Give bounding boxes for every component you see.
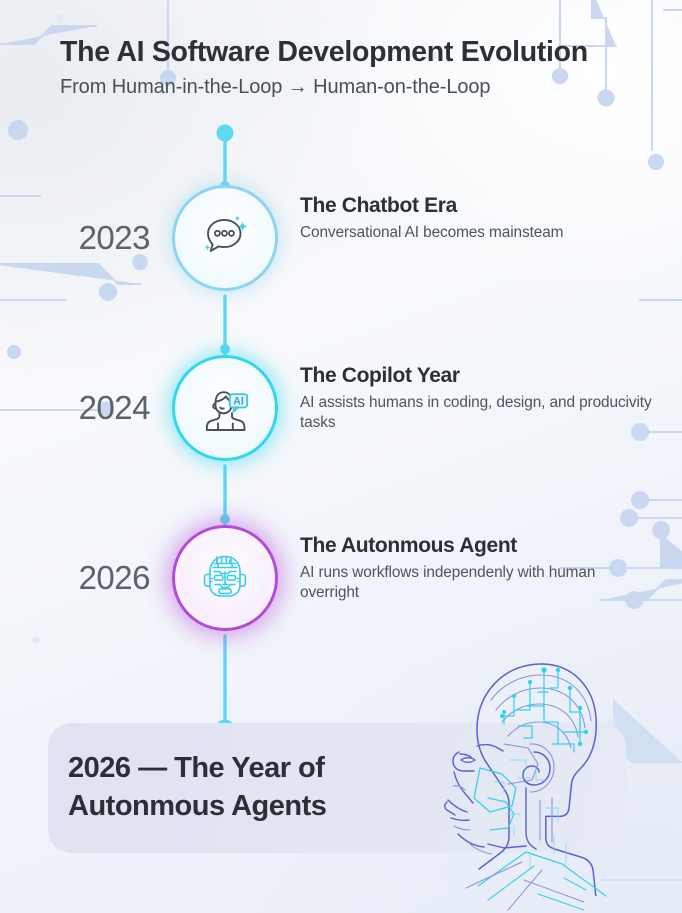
person-ai-assistant-icon: AI [193, 376, 257, 440]
timeline-node-2023[interactable] [172, 185, 278, 291]
timeline-node-2026[interactable] [172, 525, 278, 631]
timeline-heading: The Chatbot Era [300, 194, 652, 218]
timeline-year-label: 2023 [0, 180, 162, 296]
infographic-canvas: The AI Software Development Evolution Fr… [0, 0, 682, 913]
timeline-year-label: 2026 [0, 520, 162, 636]
robot-head-icon [192, 545, 258, 611]
page-title: The AI Software Development Evolution [60, 36, 660, 70]
timeline-year-label: 2024 [0, 350, 162, 466]
ai-badge-label: AI [233, 395, 244, 407]
timeline-description: AI assists humans in coding, design, and… [300, 393, 652, 434]
chat-bubble-sparkle-icon [194, 207, 256, 269]
page-subtitle: From Human-in-the-Loop → Human-on-the-Lo… [60, 76, 660, 99]
timeline-description: AI runs workflows independenly with huma… [300, 563, 652, 604]
timeline-copy: The Copilot Year AI assists humans in co… [300, 364, 652, 433]
timeline-heading: The Copilot Year [300, 364, 652, 388]
timeline-start-dot [217, 125, 234, 142]
wireframe-human-head-icon [418, 648, 682, 913]
banner-line-1: 2026 — The Year of [68, 749, 408, 787]
banner-line-2: Autonmous Agents [68, 787, 408, 825]
timeline-heading: The Autonmous Agent [300, 534, 652, 558]
header: The AI Software Development Evolution Fr… [60, 36, 660, 99]
timeline-item-2023[interactable]: 2023 The Chatbot Era Conversational AI b… [0, 180, 682, 296]
timeline-item-2024[interactable]: 2024 AI The Copilot Year [0, 350, 682, 466]
timeline-item-2026[interactable]: 2026 [0, 520, 682, 636]
highlight-banner-text: 2026 — The Year of Autonmous Agents [68, 749, 408, 826]
timeline-description: Conversational AI becomes mainsteam [300, 223, 652, 243]
timeline-copy: The Autonmous Agent AI runs workflows in… [300, 534, 652, 603]
timeline-copy: The Chatbot Era Conversational AI become… [300, 194, 652, 243]
timeline-node-2024[interactable]: AI [172, 355, 278, 461]
